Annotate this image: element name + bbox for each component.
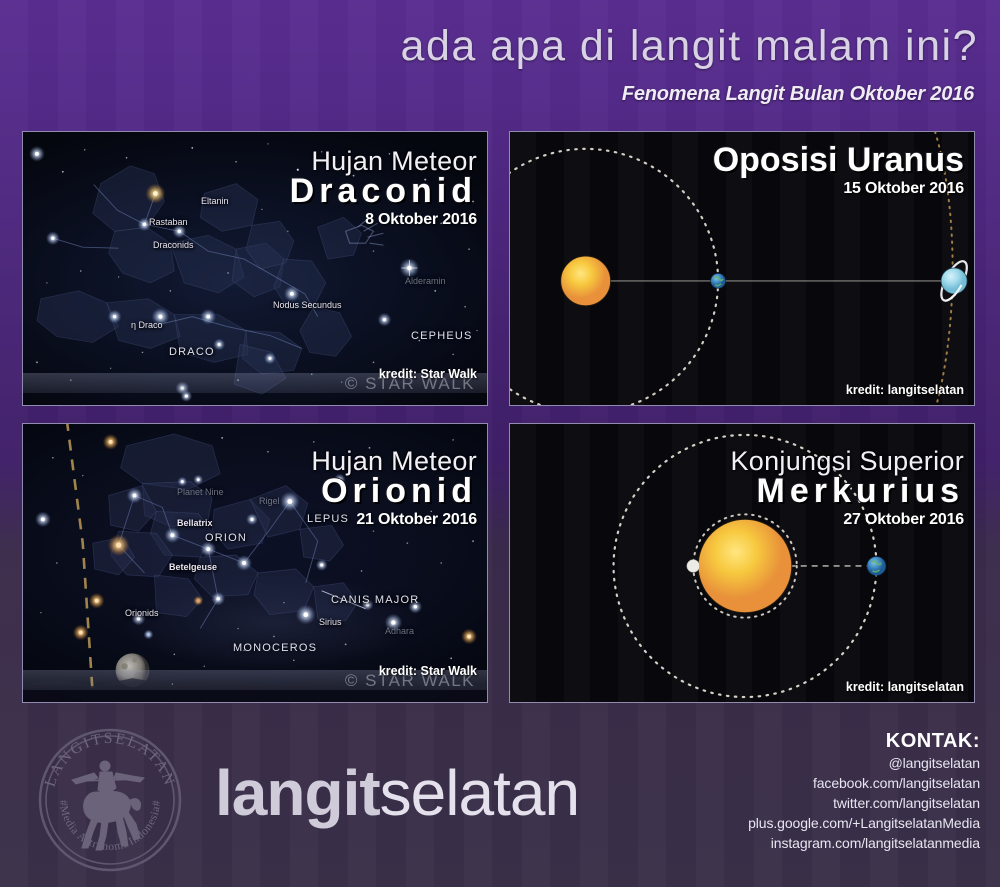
panel-draconid-title-line2: Draconid [290,172,477,211]
star-label-orionids-radiant: Orionids [125,608,159,618]
panel-orionid-date: 21 Oktober 2016 [311,511,477,529]
contact-twitter[interactable]: twitter.com/langitselatan [748,794,980,814]
star-label-planet-nine: Planet Nine [177,487,224,497]
panel-merkurius-credit: kredit: langitselatan [846,680,964,694]
star-label-adhara: Adhara [385,626,414,636]
panel-merkurius-content: Konjungsi Superior Merkurius 27 Oktober … [510,424,974,702]
constellation-label-draco: DRACO [169,346,215,358]
star-label-rigel: Rigel [259,496,280,506]
brand-bold: langit [215,757,380,829]
panel-draconid-credit: kredit: Star Walk [379,367,477,381]
panel-orionid-content: Planet Nine Rigel Bellatrix LEPUS ORION … [23,424,487,702]
panel-uranus-date: 15 Oktober 2016 [713,180,964,198]
poster-footer: LANGITSELATAN #Media Astronomi Indonesia… [0,712,1000,887]
star-label-bellatrix: Bellatrix [177,518,213,528]
panel-uranus[interactable]: Oposisi Uranus 15 Oktober 2016 kredit: l… [509,131,975,406]
brand-wordmark: langitselatan [215,756,579,830]
panel-uranus-credit: kredit: langitselatan [846,383,964,397]
panel-draconid-content: Eltanin Rastaban Draconids Nodus Secundu… [23,132,487,405]
star-label-draconids-radiant: Draconids [153,240,194,250]
constellation-label-monoceros: MONOCEROS [233,642,317,654]
panel-uranus-title-line1: Oposisi Uranus [713,141,964,180]
star-label-rastaban: Rastaban [149,217,188,227]
panel-merkurius-date: 27 Oktober 2016 [730,511,964,529]
star-label-nodus-secundus: Nodus Secundus [273,300,342,310]
panel-uranus-content: Oposisi Uranus 15 Oktober 2016 kredit: l… [510,132,974,405]
panel-orionid-credit: kredit: Star Walk [379,664,477,678]
constellation-label-orion: ORION [205,532,247,544]
panel-draconid[interactable]: Eltanin Rastaban Draconids Nodus Secundu… [22,131,488,406]
star-label-alderamin: Alderamin [405,276,446,286]
contact-facebook[interactable]: facebook.com/langitselatan [748,774,980,794]
brand-light: selatan [380,757,579,829]
contact-instagram-handle[interactable]: @langitselatan [748,754,980,774]
logo-seal-icon: LANGITSELATAN #Media Astronomi Indonesia… [36,726,184,874]
contact-instagram[interactable]: instagram.com/langitselatanmedia [748,834,980,854]
panel-merkurius-title: Konjungsi Superior Merkurius 27 Oktober … [730,446,964,529]
constellation-label-canis-major: CANIS MAJOR [331,594,419,606]
panel-orionid-title: Hujan Meteor Orionid 21 Oktober 2016 [311,446,477,529]
star-label-sirius: Sirius [319,617,342,627]
langitselatan-logo[interactable]: LANGITSELATAN #Media Astronomi Indonesia… [36,726,184,874]
panel-merkurius[interactable]: Konjungsi Superior Merkurius 27 Oktober … [509,423,975,703]
panel-merkurius-title-line2: Merkurius [730,472,964,511]
panel-orionid[interactable]: Planet Nine Rigel Bellatrix LEPUS ORION … [22,423,488,703]
panel-draconid-date: 8 Oktober 2016 [290,211,477,229]
star-label-betelgeuse: Betelgeuse [169,562,217,572]
page-subtitle: Fenomena Langit Bulan Oktober 2016 [622,83,974,106]
poster-header: ada apa di langit malam ini? Fenomena La… [0,0,1000,120]
page-title: ada apa di langit malam ini? [401,22,978,71]
panel-draconid-title: Hujan Meteor Draconid 8 Oktober 2016 [290,146,477,229]
constellation-label-cepheus: CEPHEUS [411,330,473,342]
panel-uranus-title: Oposisi Uranus 15 Oktober 2016 [713,146,964,198]
star-label-eta-draco: η Draco [131,320,163,330]
star-label-eltanin: Eltanin [201,196,229,206]
panel-orionid-title-line2: Orionid [311,472,477,511]
contact-title: KONTAK: [748,730,980,753]
contact-block: KONTAK: @langitselatan facebook.com/lang… [748,730,980,853]
contact-googleplus[interactable]: plus.google.com/+LangitselatanMedia [748,814,980,834]
